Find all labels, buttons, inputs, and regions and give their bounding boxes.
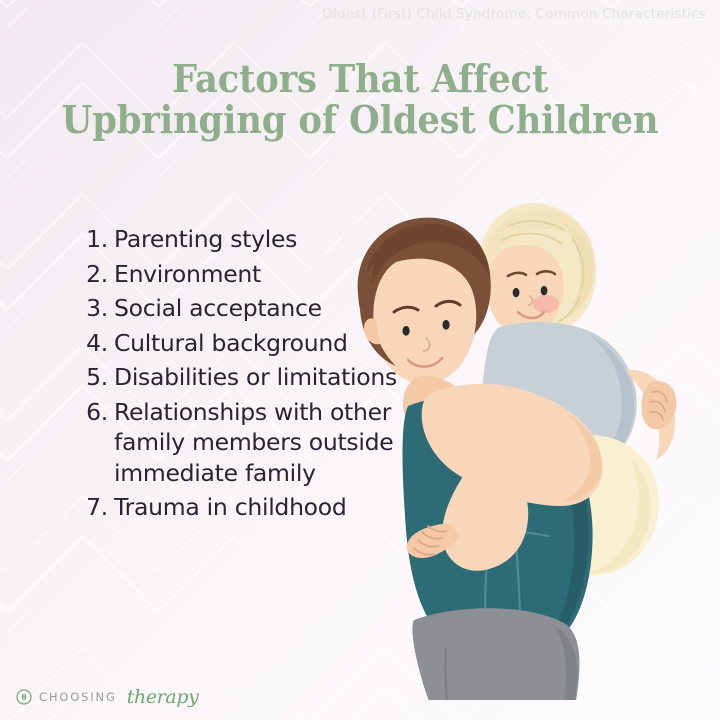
factors-list: 1. Parenting styles 2. Environment 3. So… (78, 224, 418, 527)
list-item-label: Relationships with other family members … (114, 397, 418, 489)
list-item-number: 2. (78, 259, 114, 290)
list-item-number: 4. (78, 328, 114, 359)
list-item-number: 3. (78, 293, 114, 324)
list-item-number: 6. (78, 397, 114, 428)
list-item-number: 5. (78, 362, 114, 393)
list-item: 4. Cultural background (78, 328, 418, 359)
list-item: 3. Social acceptance (78, 293, 418, 324)
list-item-label: Environment (114, 259, 418, 290)
eyebrow-text: Oldest (First) Child Syndrome: Common Ch… (322, 6, 706, 22)
list-item-label: Cultural background (114, 328, 418, 359)
list-item-number: 7. (78, 492, 114, 523)
list-item: 2. Environment (78, 259, 418, 290)
page-title-line-1: Factors That Affect (25, 58, 695, 99)
page-title-line-2: Upbringing of Oldest Children (25, 99, 695, 140)
brand-name-therapy: therapy (127, 686, 199, 708)
list-item-number: 1. (78, 224, 114, 255)
page-title: Factors That Affect Upbringing of Oldest… (0, 58, 720, 140)
brand-name-choosing: CHOOSING (39, 690, 117, 704)
list-item: 7. Trauma in childhood (78, 492, 418, 523)
list-item-label: Disabilities or limitations (114, 362, 418, 393)
list-item-label: Social acceptance (114, 293, 418, 324)
list-item-label: Trauma in childhood (114, 492, 418, 523)
list-item: 6. Relationships with other family membe… (78, 397, 418, 489)
leaf-circle-icon (16, 689, 32, 705)
infographic-canvas: Oldest (First) Child Syndrome: Common Ch… (0, 0, 720, 720)
list-item: 1. Parenting styles (78, 224, 418, 255)
brand-logo[interactable]: CHOOSING therapy (16, 686, 198, 708)
list-item: 5. Disabilities or limitations (78, 362, 418, 393)
list-item-label: Parenting styles (114, 224, 418, 255)
